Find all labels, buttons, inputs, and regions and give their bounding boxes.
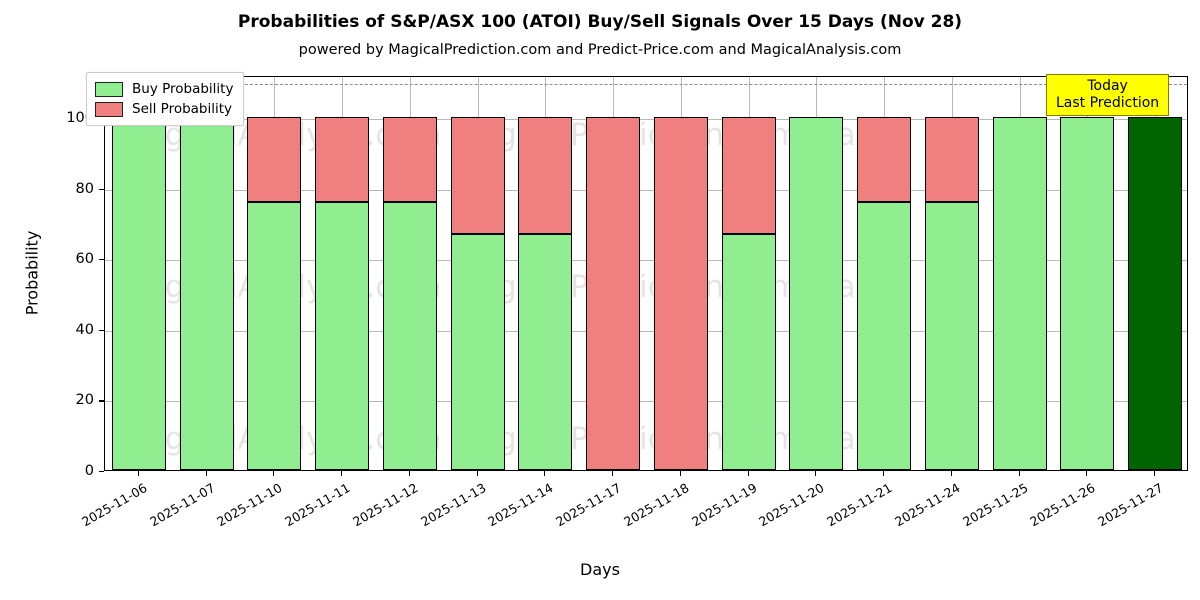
- bar-segment-sell: [247, 117, 301, 202]
- x-tick-mark: [883, 471, 884, 476]
- bar-2025-11-19[interactable]: [722, 76, 776, 470]
- bar-2025-11-10[interactable]: [247, 76, 301, 470]
- bar-segment-sell: [586, 117, 640, 470]
- legend-swatch-buy: [95, 82, 123, 97]
- chart-figure: Probabilities of S&P/ASX 100 (ATOI) Buy/…: [0, 0, 1200, 600]
- bar-2025-11-06[interactable]: [112, 76, 166, 470]
- x-tick-mark: [206, 471, 207, 476]
- bar-segment-sell: [383, 117, 437, 202]
- bar-segment-buy: [315, 202, 369, 470]
- x-tick-mark: [1086, 471, 1087, 476]
- x-tick-mark: [748, 471, 749, 476]
- bar-segment-buy: [789, 117, 843, 470]
- legend-item-sell[interactable]: Sell Probability: [95, 99, 233, 119]
- y-tick-mark: [99, 259, 104, 260]
- bar-2025-11-12[interactable]: [383, 76, 437, 470]
- legend-label-sell: Sell Probability: [132, 101, 232, 117]
- chart-subtitle: powered by MagicalPrediction.com and Pre…: [0, 42, 1200, 58]
- bar-2025-11-27[interactable]: [1128, 76, 1182, 470]
- bar-segment-buy: [112, 117, 166, 470]
- plot-area: MagicalAnalysis.com MagicalPrediction.co…: [104, 76, 1188, 471]
- x-tick-mark: [680, 471, 681, 476]
- bar-segment-buy: [1060, 117, 1114, 470]
- today-annotation: Today Last Prediction: [1046, 74, 1169, 116]
- y-tick-mark: [99, 189, 104, 190]
- bar-segment-sell: [722, 117, 776, 233]
- y-tick-label: 0: [34, 463, 94, 479]
- legend-label-buy: Buy Probability: [132, 81, 233, 97]
- bar-2025-11-18[interactable]: [654, 76, 708, 470]
- bar-segment-sell: [315, 117, 369, 202]
- bar-segment-buy: [247, 202, 301, 470]
- today-annotation-line2: Last Prediction: [1056, 95, 1159, 112]
- bar-segment-sell: [654, 117, 708, 470]
- bar-series-container: [105, 77, 1187, 470]
- today-annotation-line1: Today: [1056, 78, 1159, 95]
- bar-2025-11-25[interactable]: [993, 76, 1047, 470]
- x-tick-mark: [544, 471, 545, 476]
- x-tick-mark: [1019, 471, 1020, 476]
- y-axis-label: Probability: [23, 231, 42, 316]
- bar-segment-buy: [383, 202, 437, 470]
- y-tick-mark: [99, 400, 104, 401]
- y-tick-mark: [99, 330, 104, 331]
- x-tick-mark: [341, 471, 342, 476]
- bar-segment-buy: [722, 234, 776, 470]
- x-tick-mark: [612, 471, 613, 476]
- y-tick-label: 100: [34, 110, 94, 126]
- bar-2025-11-20[interactable]: [789, 76, 843, 470]
- x-tick-mark: [951, 471, 952, 476]
- bar-2025-11-17[interactable]: [586, 76, 640, 470]
- bar-2025-11-21[interactable]: [857, 76, 911, 470]
- bar-segment-buy: [993, 117, 1047, 470]
- legend-swatch-sell: [95, 102, 123, 117]
- bar-2025-11-26[interactable]: [1060, 76, 1114, 470]
- y-tick-label: 20: [34, 392, 94, 408]
- bar-segment-buy: [925, 202, 979, 470]
- x-tick-mark: [815, 471, 816, 476]
- y-tick-mark: [99, 471, 104, 472]
- bar-2025-11-07[interactable]: [180, 76, 234, 470]
- bar-2025-11-14[interactable]: [518, 76, 572, 470]
- bar-segment-buy: [857, 202, 911, 470]
- bar-2025-11-24[interactable]: [925, 76, 979, 470]
- bar-2025-11-13[interactable]: [451, 76, 505, 470]
- x-tick-mark: [1154, 471, 1155, 476]
- x-axis-label: Days: [0, 560, 1200, 579]
- chart-title: Probabilities of S&P/ASX 100 (ATOI) Buy/…: [0, 12, 1200, 32]
- bar-segment-buy: [451, 234, 505, 470]
- bar-segment-sell: [925, 117, 979, 202]
- bar-2025-11-11[interactable]: [315, 76, 369, 470]
- x-tick-mark: [409, 471, 410, 476]
- bar-segment-buy: [518, 234, 572, 470]
- bar-segment-sell: [451, 117, 505, 233]
- bar-segment-today: [1128, 117, 1182, 470]
- bar-segment-buy: [180, 117, 234, 470]
- y-tick-label: 80: [34, 181, 94, 197]
- x-tick-mark: [477, 471, 478, 476]
- y-tick-label: 40: [34, 322, 94, 338]
- bar-segment-sell: [857, 117, 911, 202]
- bar-segment-sell: [518, 117, 572, 233]
- y-tick-label: 60: [34, 251, 94, 267]
- x-tick-mark: [273, 471, 274, 476]
- chart-legend: Buy Probability Sell Probability: [86, 72, 244, 126]
- x-tick-mark: [138, 471, 139, 476]
- legend-item-buy[interactable]: Buy Probability: [95, 79, 233, 99]
